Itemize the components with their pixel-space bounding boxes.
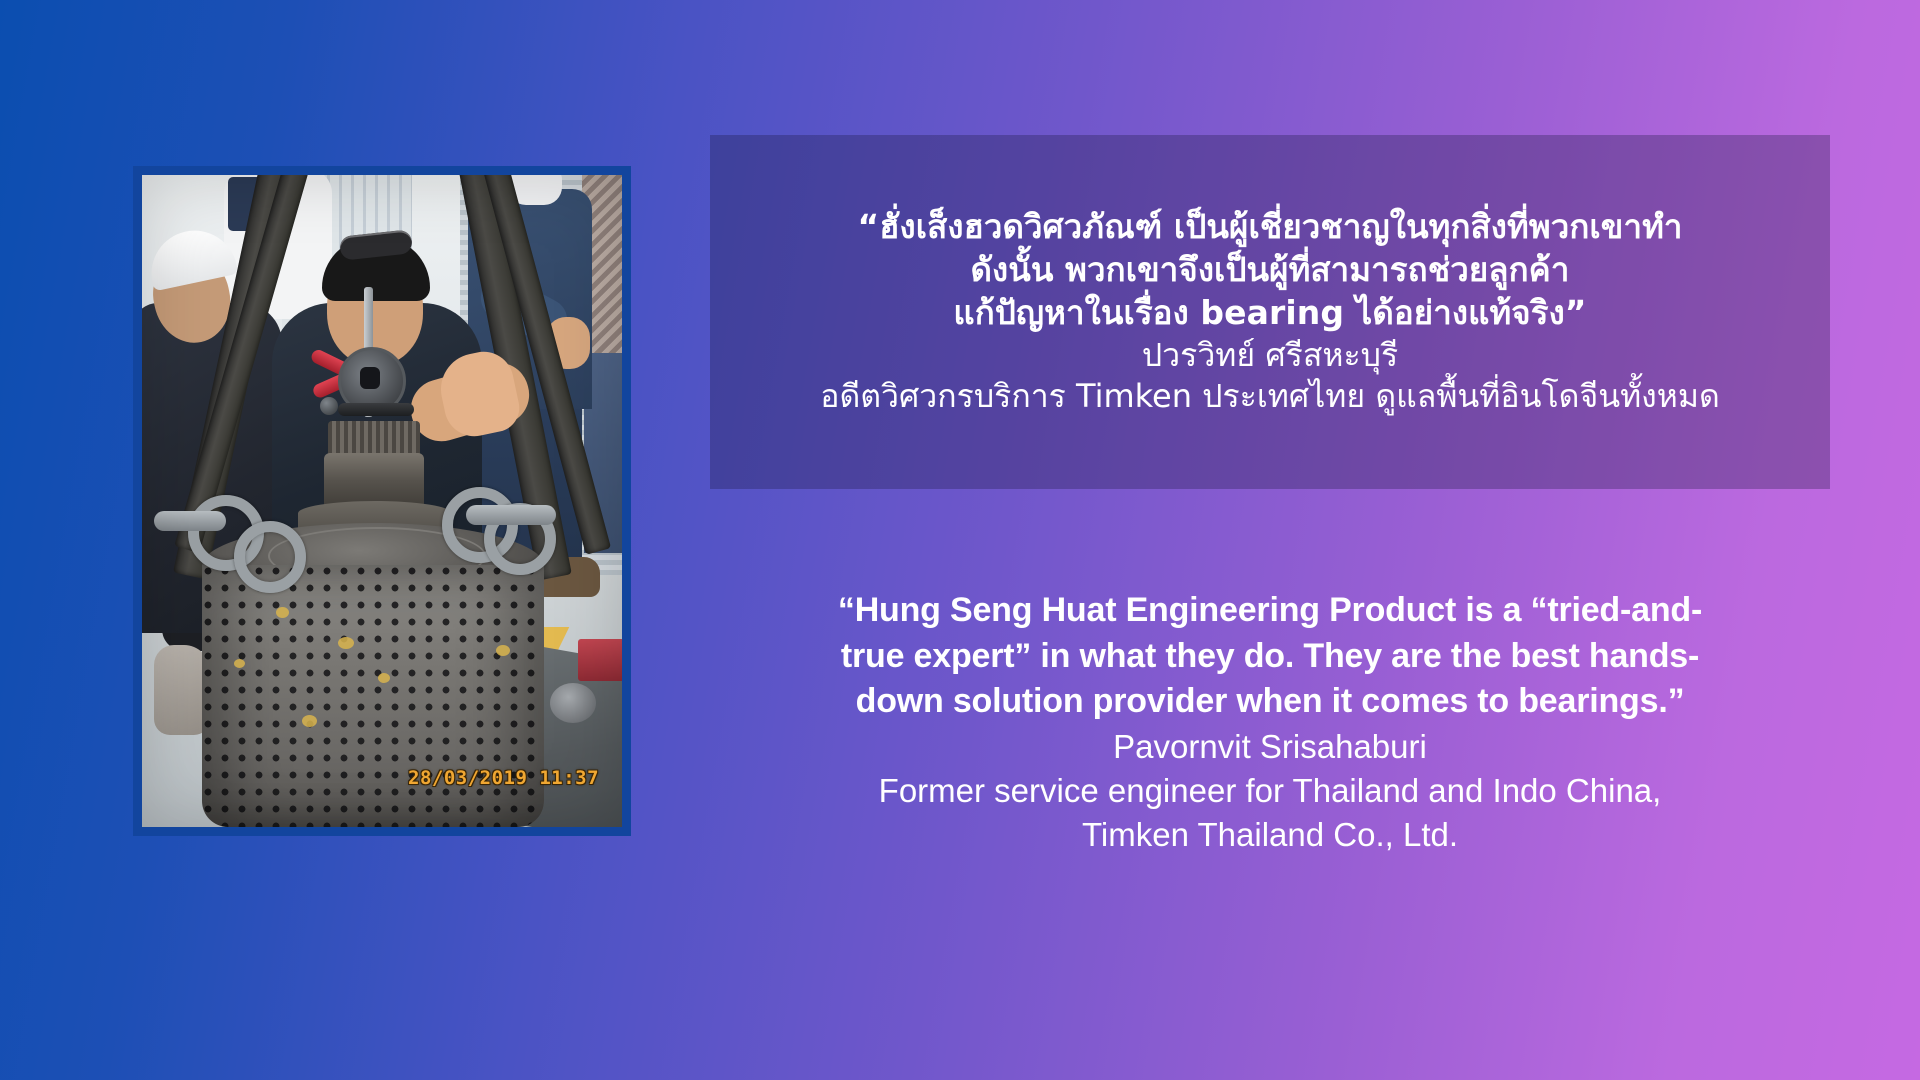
gauge-knob (360, 367, 380, 389)
photo-timestamp: 28/03/2019 11:37 (408, 767, 599, 789)
grease-spot (302, 715, 317, 727)
thai-author-role: อดีตวิศวกรบริการ Timken ประเทศไทย ดูแลพื… (820, 376, 1720, 418)
grease-spot (496, 645, 510, 656)
trolley-caster-wheel (550, 683, 596, 723)
grease-spot (338, 637, 354, 649)
english-testimonial-block: “Hung Seng Huat Engineering Product is a… (700, 588, 1840, 857)
thai-testimonial-panel: “ฮั่งเส็งฮวดวิศวภัณฑ์ เป็นผู้เชี่ยวชาญใน… (710, 135, 1830, 489)
grease-spot (378, 673, 390, 683)
shackle-pin-left (154, 511, 226, 531)
thai-quote-line-2: ดังนั้น พวกเขาจึงเป็นผู้ที่สามารถช่วยลูก… (971, 249, 1570, 292)
grease-spot (234, 659, 245, 668)
english-quote-line-2: true expert” in what they do. They are t… (700, 634, 1840, 680)
english-quote-line-3: down solution provider when it comes to … (700, 679, 1840, 725)
gauge-mounting-arm (338, 403, 414, 416)
thai-quote-line-1: “ฮั่งเส็งฮวดวิศวภัณฑ์ เป็นผู้เชี่ยวชาญใน… (858, 206, 1683, 249)
english-author-role-line-2: Timken Thailand Co., Ltd. (700, 813, 1840, 857)
site-photo: 28/03/2019 11:37 (142, 175, 622, 827)
testimonial-slide: 28/03/2019 11:37 “ฮั่งเส็งฮวดวิศวภัณฑ์ เ… (0, 0, 1920, 1080)
splined-gear (328, 421, 420, 457)
thai-author-name: ปวรวิทย์ ศรีสหะบุรี (1142, 335, 1398, 377)
english-quote-line-1: “Hung Seng Huat Engineering Product is a… (700, 588, 1840, 634)
photo-frame: 28/03/2019 11:37 (133, 166, 631, 836)
thai-quote-line-3: แก้ปัญหาในเรื่อง bearing ได้อย่างแท้จริง… (953, 292, 1586, 335)
grease-spot (276, 607, 289, 618)
red-equipment-block (578, 639, 622, 681)
english-author-role-line-1: Former service engineer for Thailand and… (700, 769, 1840, 813)
shackle-pin-right (466, 505, 556, 525)
english-author-name: Pavornvit Srisahaburi (700, 725, 1840, 769)
lifting-shackle-left-2 (234, 521, 306, 593)
gauge-ball-joint (320, 397, 338, 415)
